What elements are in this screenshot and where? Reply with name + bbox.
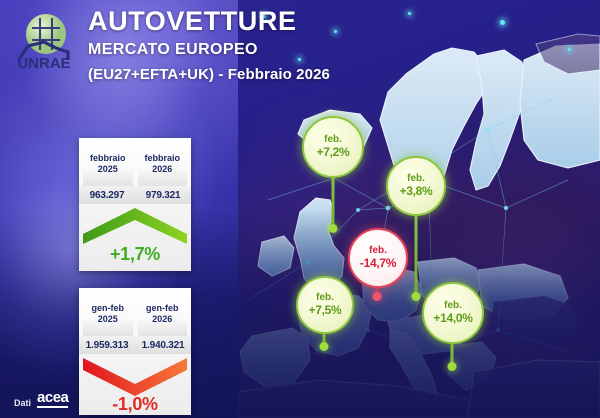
star-dot — [334, 30, 337, 33]
source-name: acea — [37, 390, 68, 408]
marker-germany[interactable]: feb. -14,7% — [348, 228, 406, 296]
source-footer: Dati acea — [14, 390, 68, 408]
page-subtitle: MERCATO EUROPEO — [88, 42, 330, 58]
stat-panel-febbraio: febbraio 2025 febbraio 2026 963.297 979.… — [79, 138, 191, 271]
panel-col-prev: gen-feb 2025 — [83, 292, 133, 336]
marker-italy[interactable]: feb. +14,0% — [422, 282, 482, 368]
panel-curr-value: 979.321 — [135, 190, 191, 201]
panel-prev-value: 963.297 — [79, 190, 135, 201]
panel-header: gen-feb 2025 gen-feb 2026 — [79, 288, 191, 336]
panel-curr-label: febbraio — [144, 153, 180, 164]
marker-spain[interactable]: feb. +7,5% — [296, 276, 352, 348]
infographic-root: UNRAE AUTOVETTURE MERCATO EUROPEO (EU27+… — [0, 0, 600, 418]
marker-value: +7,5% — [309, 304, 342, 317]
panel-col-prev: febbraio 2025 — [83, 142, 133, 186]
panel-col-curr: gen-feb 2026 — [138, 292, 188, 336]
panel-chevron-down — [79, 354, 191, 398]
marker-bubble[interactable]: feb. +3,8% — [386, 156, 446, 216]
panel-chevron-up — [79, 204, 191, 248]
panel-values: 1.959.313 1.940.321 — [79, 336, 191, 354]
marker-bulb — [320, 342, 329, 351]
marker-uk[interactable]: feb. +7,2% — [302, 116, 364, 232]
marker-value: +7,2% — [317, 146, 350, 159]
marker-bulb — [448, 362, 457, 371]
marker-stem — [415, 208, 418, 300]
marker-bubble[interactable]: feb. +7,2% — [302, 116, 364, 178]
panel-prev-year: 2025 — [98, 314, 118, 325]
page-scope: (EU27+EFTA+UK) - Febbraio 2026 — [88, 67, 330, 82]
star-dot — [500, 20, 505, 25]
star-dot — [568, 48, 571, 51]
marker-bulb — [329, 224, 338, 233]
marker-stem — [332, 170, 335, 232]
panel-curr-value: 1.940.321 — [135, 340, 191, 351]
source-prefix: Dati — [14, 398, 31, 408]
page-title: AUTOVETTURE — [88, 8, 330, 35]
marker-bubble[interactable]: feb. +14,0% — [422, 282, 484, 344]
marker-bubble[interactable]: feb. +7,5% — [296, 276, 354, 334]
panel-col-curr: febbraio 2026 — [138, 142, 188, 186]
marker-value: +14,0% — [433, 312, 472, 325]
title-block: AUTOVETTURE MERCATO EUROPEO (EU27+EFTA+U… — [88, 8, 330, 82]
panel-header: febbraio 2025 febbraio 2026 — [79, 138, 191, 186]
unrae-wordmark: UNRAE — [17, 55, 70, 72]
unrae-logo: UNRAE — [6, 8, 82, 74]
marker-bulb — [412, 292, 421, 301]
panel-curr-year: 2026 — [152, 164, 172, 175]
panel-prev-label: febbraio — [90, 153, 126, 164]
panel-curr-label: gen-feb — [146, 303, 179, 314]
marker-bulb — [373, 292, 382, 301]
star-dot — [408, 12, 411, 15]
panel-prev-year: 2025 — [98, 164, 118, 175]
panel-prev-value: 1.959.313 — [79, 340, 135, 351]
marker-value: +3,8% — [400, 185, 433, 198]
marker-bubble[interactable]: feb. -14,7% — [348, 228, 408, 288]
panel-prev-label: gen-feb — [92, 303, 125, 314]
panel-curr-year: 2026 — [152, 314, 172, 325]
stat-panel-gen-feb: gen-feb 2025 gen-feb 2026 1.959.313 1.94… — [79, 288, 191, 415]
panel-values: 963.297 979.321 — [79, 186, 191, 204]
marker-value: -14,7% — [360, 257, 396, 270]
